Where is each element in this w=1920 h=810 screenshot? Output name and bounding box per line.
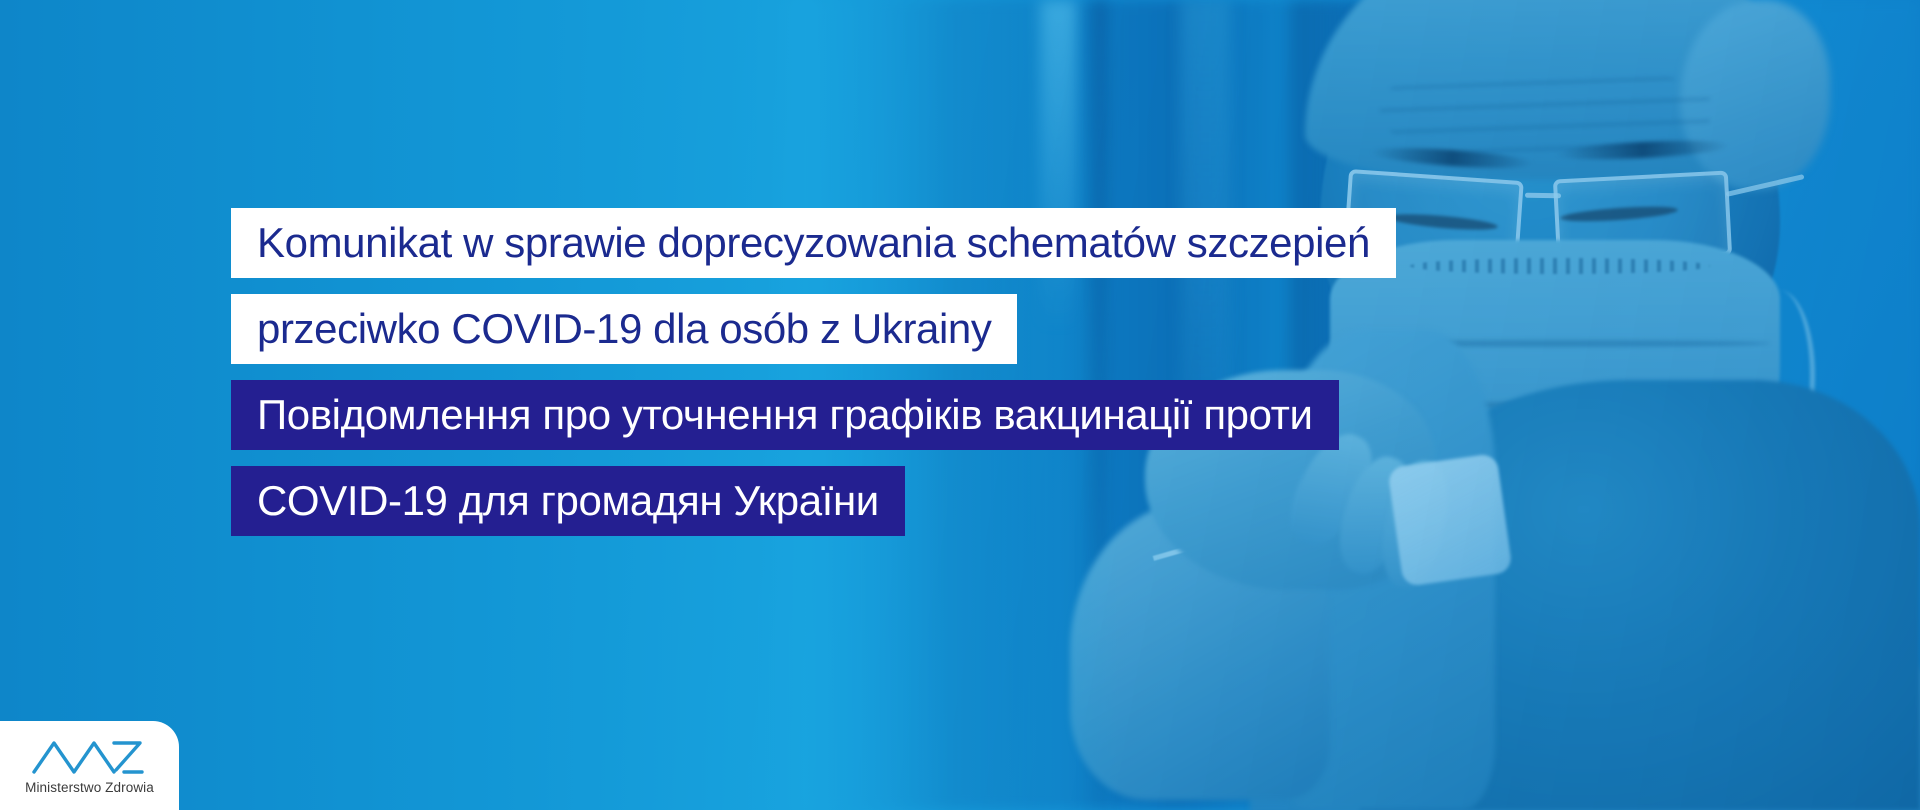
ministry-logo-badge[interactable]: Ministerstwo Zdrowia bbox=[0, 721, 179, 810]
headline-line-uk-1: Повідомлення про уточнення графіків вакц… bbox=[231, 380, 1339, 450]
mz-logo-icon bbox=[30, 736, 150, 778]
ministry-logo-caption: Ministerstwo Zdrowia bbox=[25, 780, 154, 795]
headline-line-pl-1: Komunikat w sprawie doprecyzowania schem… bbox=[231, 208, 1396, 278]
headline-line-pl-2: przeciwko COVID-19 dla osób z Ukrainy bbox=[231, 294, 1017, 364]
health-ministry-banner: Komunikat w sprawie doprecyzowania schem… bbox=[0, 0, 1920, 810]
headline-line-uk-2: COVID-19 для громадян України bbox=[231, 466, 905, 536]
headline-group: Komunikat w sprawie doprecyzowania schem… bbox=[231, 208, 1396, 536]
